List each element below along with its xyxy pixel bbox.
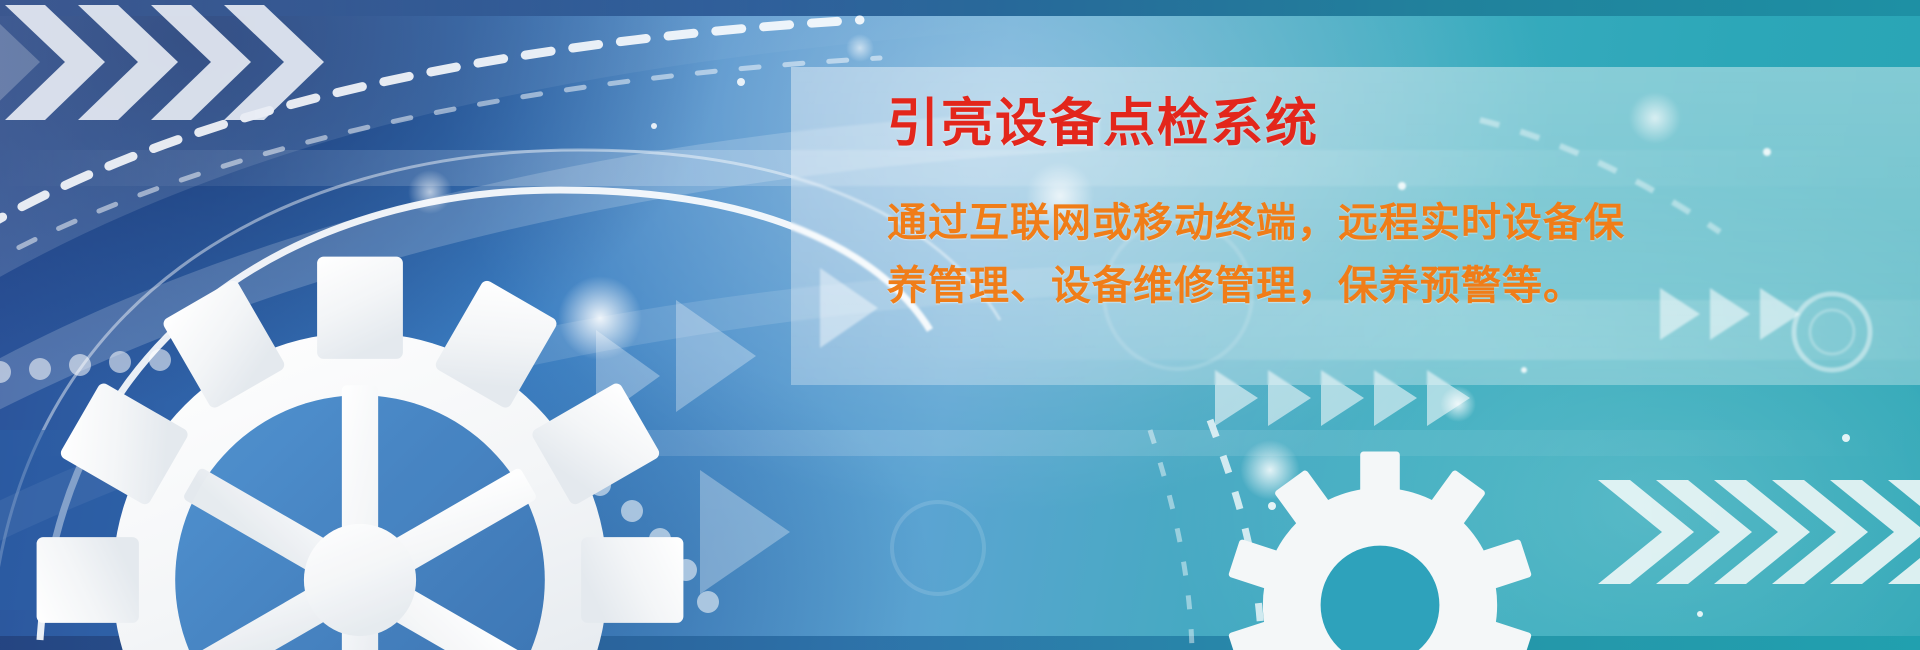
page-subtitle: 通过互联网或移动终端，远程实时设备保 养管理、设备维修管理，保养预警等。 [887,192,1897,318]
subtitle-line-2: 养管理、设备维修管理，保养预警等。 [887,255,1897,318]
page-title: 引亮设备点检系统 [887,95,1897,153]
gear-icon [30,250,690,650]
gear-icon [1215,440,1545,650]
subtitle-line-1: 通过互联网或移动终端，远程实时设备保 [887,192,1897,255]
chevron-right-icon [1598,480,1920,584]
hero-banner: 引亮设备点检系统 通过互联网或移动终端，远程实时设备保 养管理、设备维修管理，保… [0,0,1920,650]
